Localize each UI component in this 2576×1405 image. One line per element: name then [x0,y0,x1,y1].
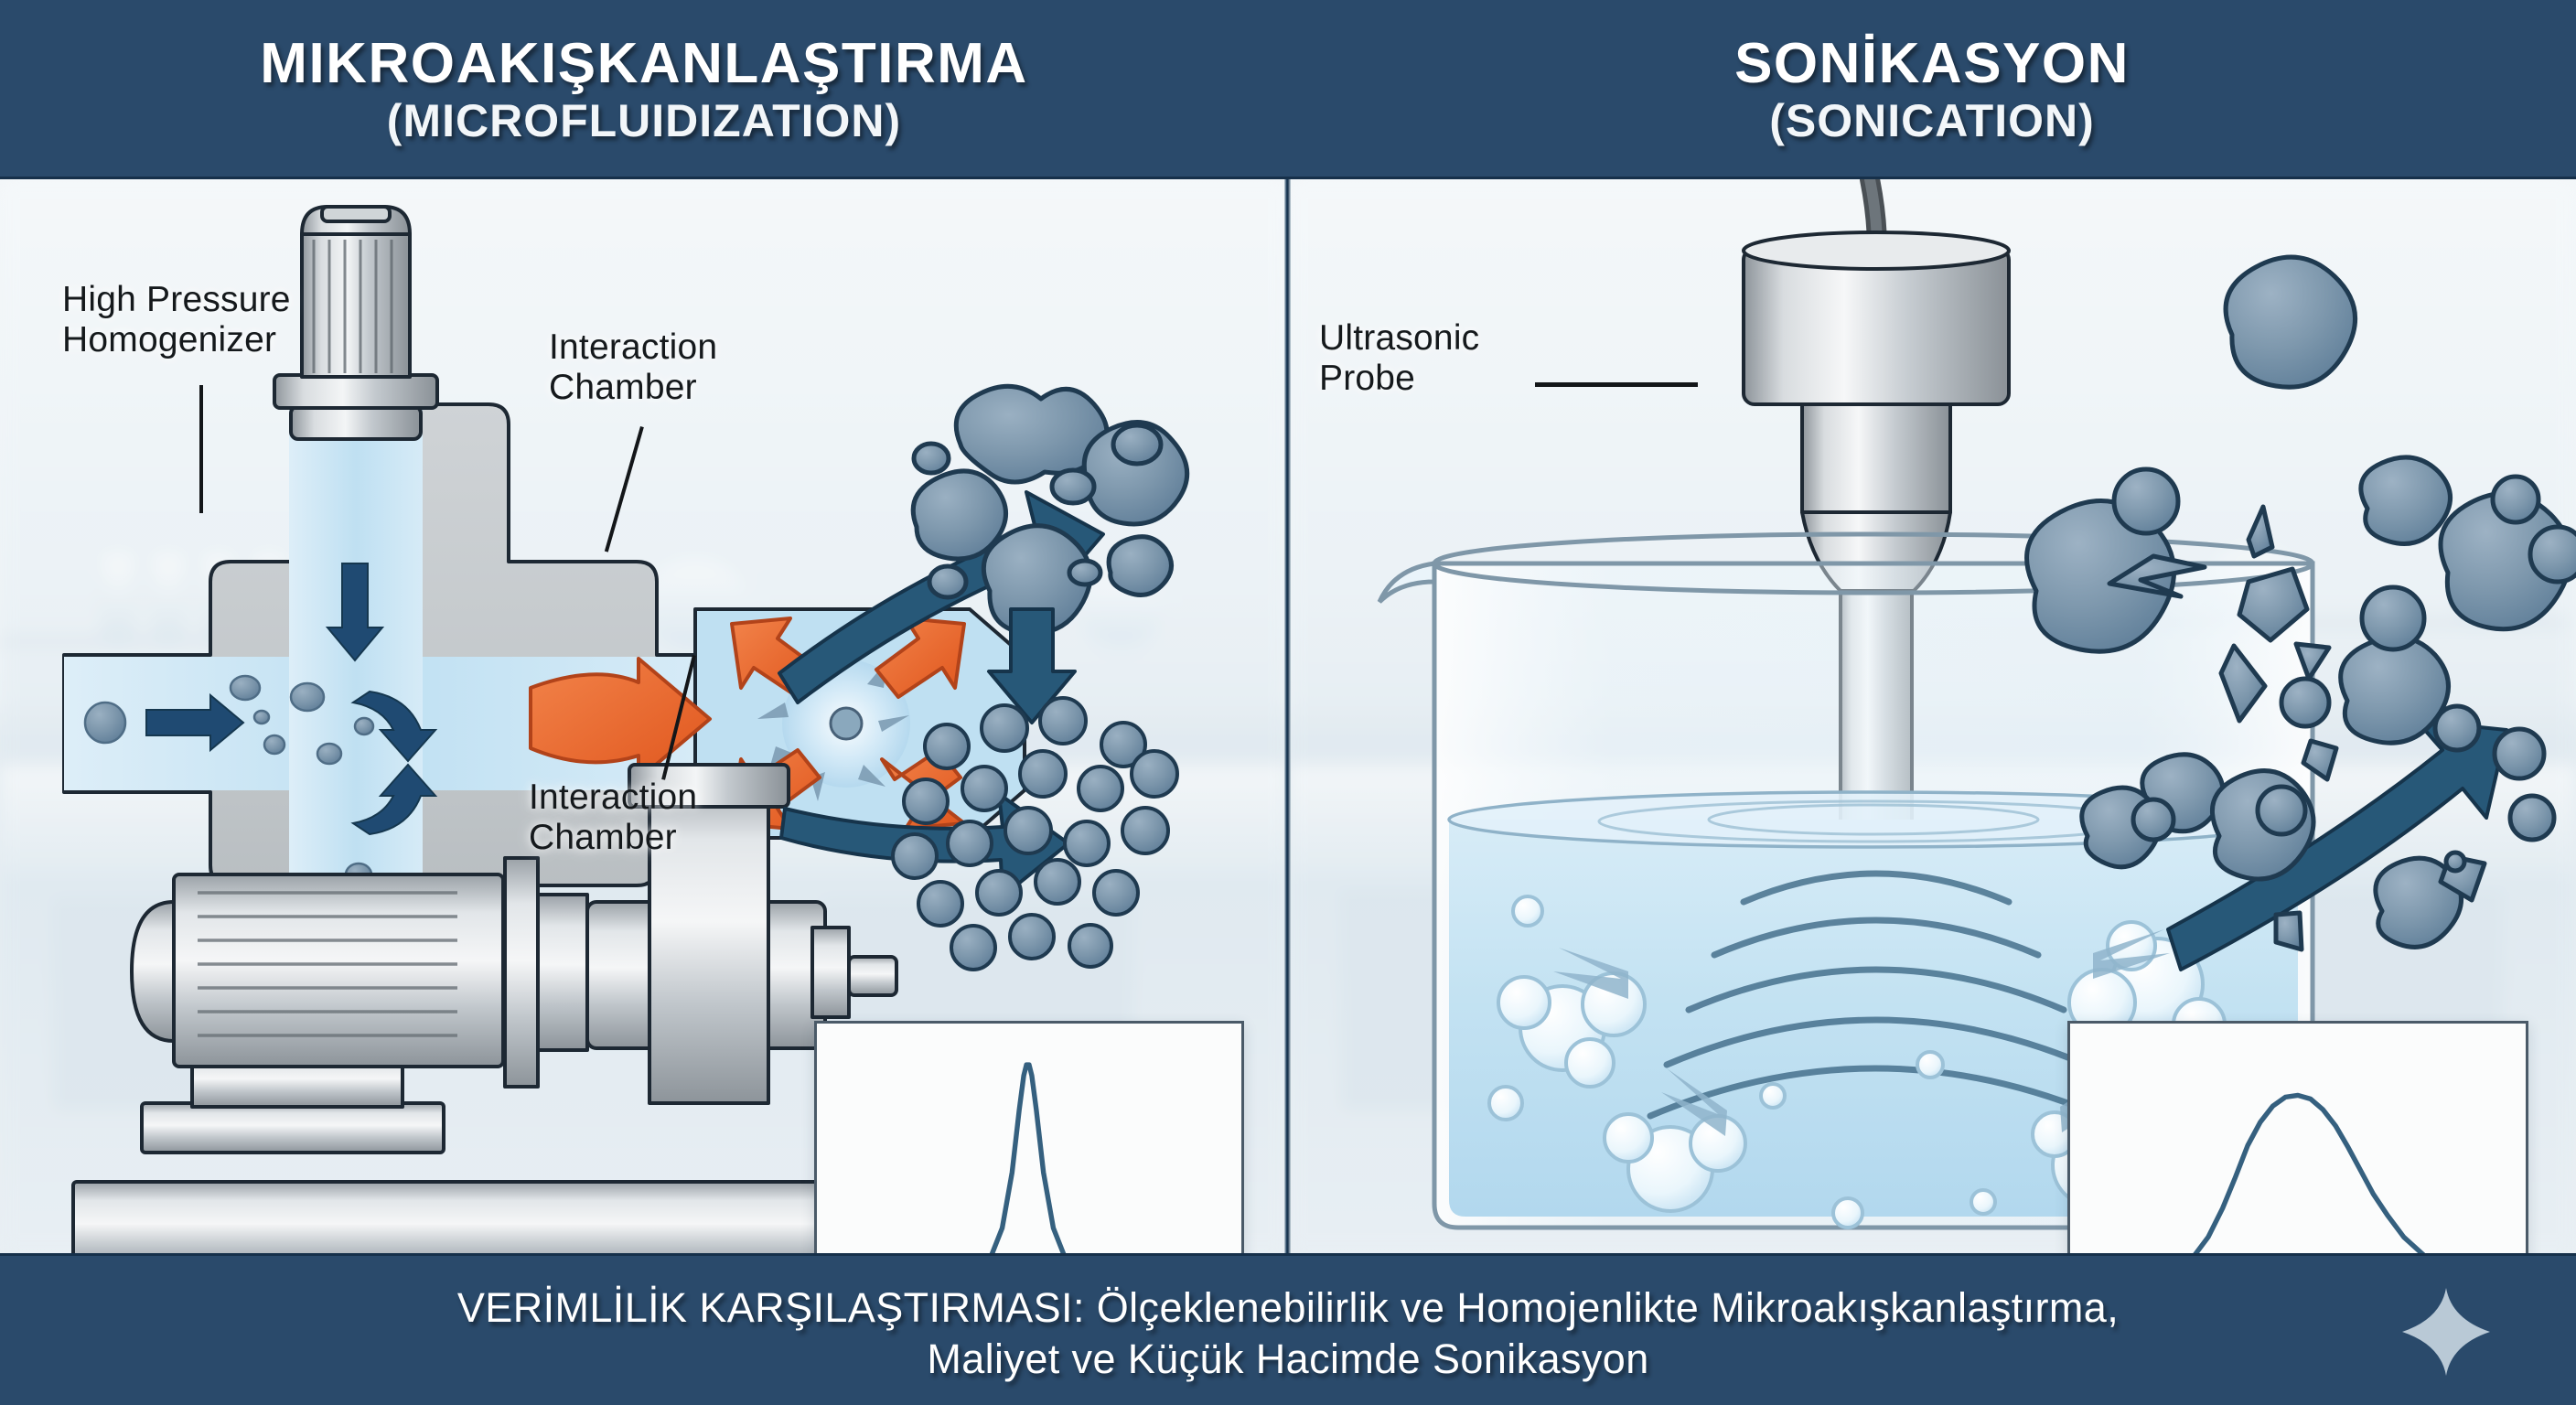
stage: High Pressure Homogenizer Interaction Ch… [0,179,2576,1253]
footer-line-2: Maliyet ve Küçük Hacimde Sonikasyon [927,1335,1648,1383]
label-interaction-chamber-top: Interaction Chamber [549,327,717,409]
sparkle-icon [2400,1286,2492,1378]
header-left-microfluidization: MIKROAKIŞKANLAŞTIRMA (MICROFLUIDIZATION) [0,0,1288,179]
label-interaction-chamber-bottom: Interaction Chamber [529,778,697,859]
panel-microfluidization: High Pressure Homogenizer Interaction Ch… [0,179,1288,1253]
infographic-page: MIKROAKIŞKANLAŞTIRMA (MICROFLUIDIZATION)… [0,0,2576,1405]
footer-text: VERİMLİLİK KARŞILAŞTIRMASI: Ölçeklenebil… [0,1256,2576,1405]
header-left-title: MIKROAKIŞKANLAŞTIRMA [260,36,1027,92]
leader-high-pressure-homogenizer [199,385,203,513]
header-right-subtitle: (SONICATION) [1769,98,2094,144]
header-right-sonication: SONİKASYON (SONICATION) [1288,0,2576,179]
broad-pdi-chart [2067,1021,2528,1253]
label-ultrasonic-probe: Ultrasonic Probe [1319,318,1479,400]
label-high-pressure-homogenizer: High Pressure Homogenizer [62,280,291,361]
footer-line-1: VERİMLİLİK KARŞILAŞTIRMASI: Ölçeklenebil… [457,1284,2119,1332]
broad-pdi-curve [2070,1024,2526,1253]
header-right-title: SONİKASYON [1734,36,2130,92]
footer-band: VERİMLİLİK KARŞILAŞTIRMASI: Ölçeklenebil… [0,1253,2576,1405]
panel-divider [1284,179,1291,1253]
panel-sonication: Ultrasonic Probe Geniş PDI (Heterojen) [1288,179,2576,1253]
narrow-pdi-chart [814,1021,1244,1253]
broad-pdi-card: Geniş PDI (Heterojen) [2067,1021,2528,1253]
header-left-subtitle: (MICROFLUIDIZATION) [387,98,901,144]
header-band: MIKROAKIŞKANLAŞTIRMA (MICROFLUIDIZATION)… [0,0,2576,179]
narrow-pdi-card: Dar PDI (Homojen) [814,1021,1244,1253]
narrow-pdi-curve [817,1024,1241,1253]
leader-ultrasonic-probe [1535,382,1698,387]
